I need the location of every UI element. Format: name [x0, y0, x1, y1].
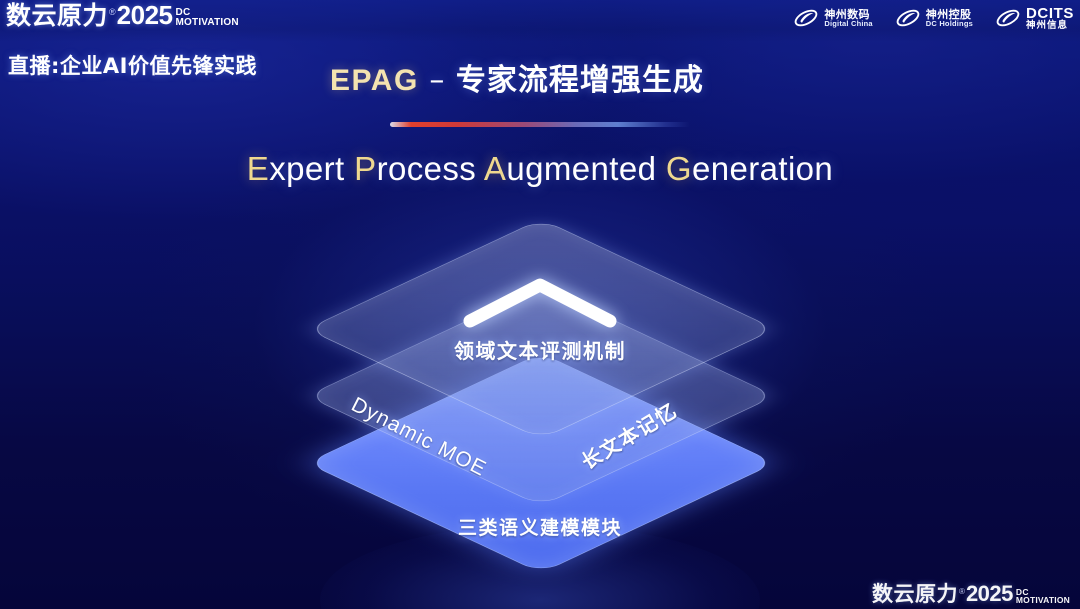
partner-logo-group: 神州数码 Digital China 神州控股 DC Holdings: [793, 5, 1074, 31]
brand-dc-motivation: DC MOTIVATION: [1016, 588, 1070, 604]
subtitle-cap-g: G: [666, 150, 692, 187]
title-dash: –: [419, 63, 456, 98]
subtitle-cap-a: A: [484, 150, 506, 187]
partner-text-dcits: DCITS 神州信息: [1026, 6, 1074, 31]
layer-stack-diagram: 领域文本评测机制 Dynamic MOE 长文本记忆 三类语义建模模块: [290, 225, 790, 585]
partner-text-digital-china: 神州数码 Digital China: [824, 9, 872, 28]
title-acronym: EPAG: [330, 64, 419, 97]
partner-name-cn: 神州信息: [1026, 21, 1074, 31]
partner-text-dc-holdings: 神州控股 DC Holdings: [926, 9, 973, 28]
subtitle-rest-process: rocess: [377, 150, 484, 187]
brand-dc-motivation: DC MOTIVATION: [176, 8, 239, 27]
title-chinese: 专家流程增强生成: [456, 63, 704, 98]
brand-name-cn: 数云原力: [872, 584, 958, 605]
partner-name-en: Digital China: [824, 20, 872, 28]
layer-label-bottom: 三类语义建模模块: [290, 513, 790, 540]
swirl-logo-icon: [995, 5, 1021, 31]
chevron-up-icon: [460, 273, 620, 333]
brand-dc-line2: MOTIVATION: [176, 18, 239, 28]
partner-name-en: DC Holdings: [926, 20, 973, 28]
subtitle-rest-generation: eneration: [692, 150, 833, 187]
layer-label-top: 领域文本评测机制: [290, 335, 790, 364]
partner-logo-dcits: DCITS 神州信息: [995, 5, 1074, 31]
partner-logo-dc-holdings: 神州控股 DC Holdings: [895, 5, 973, 31]
subtitle-cap-e: E: [247, 150, 269, 187]
brand-registered-mark: ®: [109, 8, 116, 17]
swirl-logo-icon: [793, 5, 819, 31]
subtitle-rest-augmented: ugmented: [506, 150, 666, 187]
swirl-logo-icon: [895, 5, 921, 31]
slide-canvas: 数云原力 ® 2025 DC MOTIVATION 直播:企业AI价值先锋实践 …: [0, 0, 1080, 609]
page-subtitle: Expert Process Augmented Generation: [0, 150, 1080, 188]
subtitle-rest-expert: xpert: [269, 150, 354, 187]
brand-name-cn: 数云原力: [6, 3, 108, 28]
partner-logo-digital-china: 神州数码 Digital China: [793, 5, 872, 31]
brand-year: 2025: [966, 583, 1013, 605]
title-divider: [390, 122, 690, 127]
subtitle-cap-p: P: [354, 150, 376, 187]
live-stream-topic: 直播:企业AI价值先锋实践: [8, 50, 257, 80]
brand-dc-line2: MOTIVATION: [1016, 596, 1070, 604]
page-title: EPAG – 专家流程增强生成: [330, 55, 704, 99]
brand-year: 2025: [117, 2, 173, 28]
brand-logo-bottom-right: 数云原力 ® 2025 DC MOTIVATION: [872, 583, 1070, 605]
brand-logo-top-left: 数云原力 ® 2025 DC MOTIVATION: [6, 2, 239, 28]
partner-name-en: DCITS: [1026, 6, 1074, 21]
brand-registered-mark: ®: [959, 588, 965, 596]
